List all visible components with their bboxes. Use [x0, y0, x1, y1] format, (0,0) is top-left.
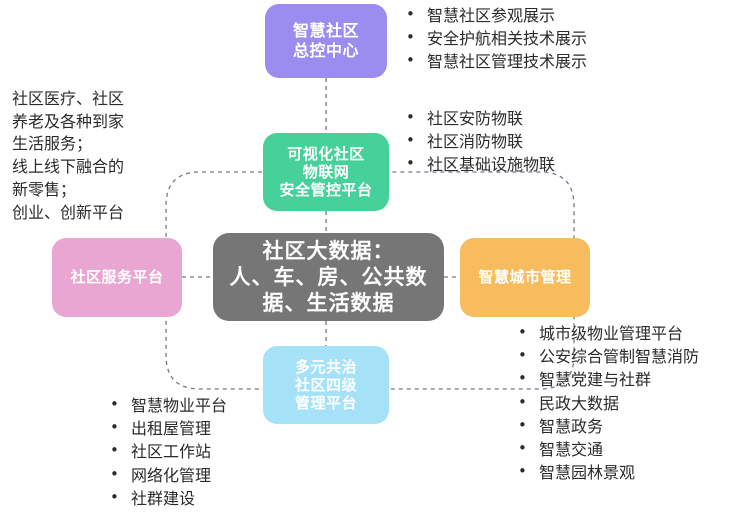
annotation-service-line: 养老及各种到家: [12, 111, 124, 134]
list-item: 智慧政务: [512, 415, 699, 438]
list-item: 智慧交通: [512, 438, 699, 461]
node-control-center-line-1: 智慧社区: [293, 21, 359, 41]
node-four-level-community-management-platform[interactable]: 多元共治 社区四级 管理平台: [263, 346, 389, 424]
list-item: 社区消防物联: [400, 130, 555, 153]
node-iot-line-3: 安全管控平台: [279, 181, 372, 199]
node-community-big-data-hub[interactable]: 社区大数据： 人、车、房、公共数 据、生活数据: [213, 233, 444, 321]
node-smart-city-management[interactable]: 智慧城市管理: [460, 238, 590, 317]
node-four-level-line-1: 多元共治: [295, 358, 357, 376]
annotation-service-platform: 社区医疗、社区 养老及各种到家 生活服务； 线上线下融合的 新零售； 创业、创新…: [12, 88, 124, 224]
annotation-city-management: 城市级物业管理平台 公安综合管制智慧消防 智慧党建与社群 民政大数据 智慧政务 …: [512, 322, 699, 484]
annotation-iot-list: 社区安防物联 社区消防物联 社区基础设施物联: [400, 107, 555, 177]
annotation-service-line: 线上线下融合的: [12, 156, 124, 179]
annotation-service-line: 社区医疗、社区: [12, 88, 124, 111]
list-item: 社区工作站: [104, 440, 227, 463]
annotation-four-level-platform: 智慧物业平台 出租屋管理 社区工作站 网络化管理 社群建设: [104, 394, 227, 510]
annotation-iot-platform: 社区安防物联 社区消防物联 社区基础设施物联: [400, 107, 555, 177]
list-item: 城市级物业管理平台: [512, 322, 699, 345]
node-service-platform-label: 社区服务平台: [70, 268, 163, 286]
list-item: 社区安防物联: [400, 107, 555, 130]
node-control-center-line-2: 总控中心: [293, 41, 359, 61]
node-iot-line-1: 可视化社区: [287, 145, 365, 163]
annotation-service-line: 创业、创新平台: [12, 202, 124, 225]
node-bigdata-line-1: 社区大数据：: [263, 238, 395, 264]
annotation-control-center: 智慧社区参观展示 安全护航相关技术展示 智慧社区管理技术展示: [400, 4, 587, 74]
list-item: 安全护航相关技术展示: [400, 27, 587, 50]
annotation-control-center-list: 智慧社区参观展示 安全护航相关技术展示 智慧社区管理技术展示: [400, 4, 587, 74]
annotation-city-list: 城市级物业管理平台 公安综合管制智慧消防 智慧党建与社群 民政大数据 智慧政务 …: [512, 322, 699, 484]
node-four-level-line-2: 社区四级: [295, 376, 357, 394]
annotation-four-level-list: 智慧物业平台 出租屋管理 社区工作站 网络化管理 社群建设: [104, 394, 227, 510]
list-item: 智慧园林景观: [512, 461, 699, 484]
node-visual-community-iot-security-platform[interactable]: 可视化社区 物联网 安全管控平台: [263, 133, 389, 211]
annotation-service-line: 新零售；: [12, 179, 124, 202]
list-item: 智慧党建与社群: [512, 368, 699, 391]
list-item: 智慧社区管理技术展示: [400, 50, 587, 73]
list-item: 公安综合管制智慧消防: [512, 345, 699, 368]
list-item: 网络化管理: [104, 464, 227, 487]
diagram-canvas: 智慧社区 总控中心 可视化社区 物联网 安全管控平台 社区大数据： 人、车、房、…: [0, 0, 740, 512]
list-item: 民政大数据: [512, 392, 699, 415]
node-iot-line-2: 物联网: [303, 163, 350, 181]
node-community-service-platform[interactable]: 社区服务平台: [52, 238, 182, 317]
list-item: 出租屋管理: [104, 417, 227, 440]
list-item: 社群建设: [104, 487, 227, 510]
node-city-management-label: 智慧城市管理: [478, 268, 571, 286]
node-smart-community-control-center[interactable]: 智慧社区 总控中心: [265, 4, 387, 78]
list-item: 智慧社区参观展示: [400, 4, 587, 27]
list-item: 智慧物业平台: [104, 394, 227, 417]
node-four-level-line-3: 管理平台: [295, 394, 357, 412]
node-bigdata-line-3: 据、生活数据: [263, 290, 395, 316]
list-item: 社区基础设施物联: [400, 153, 555, 176]
node-bigdata-line-2: 人、车、房、公共数: [230, 264, 428, 290]
annotation-service-line: 生活服务；: [12, 133, 124, 156]
